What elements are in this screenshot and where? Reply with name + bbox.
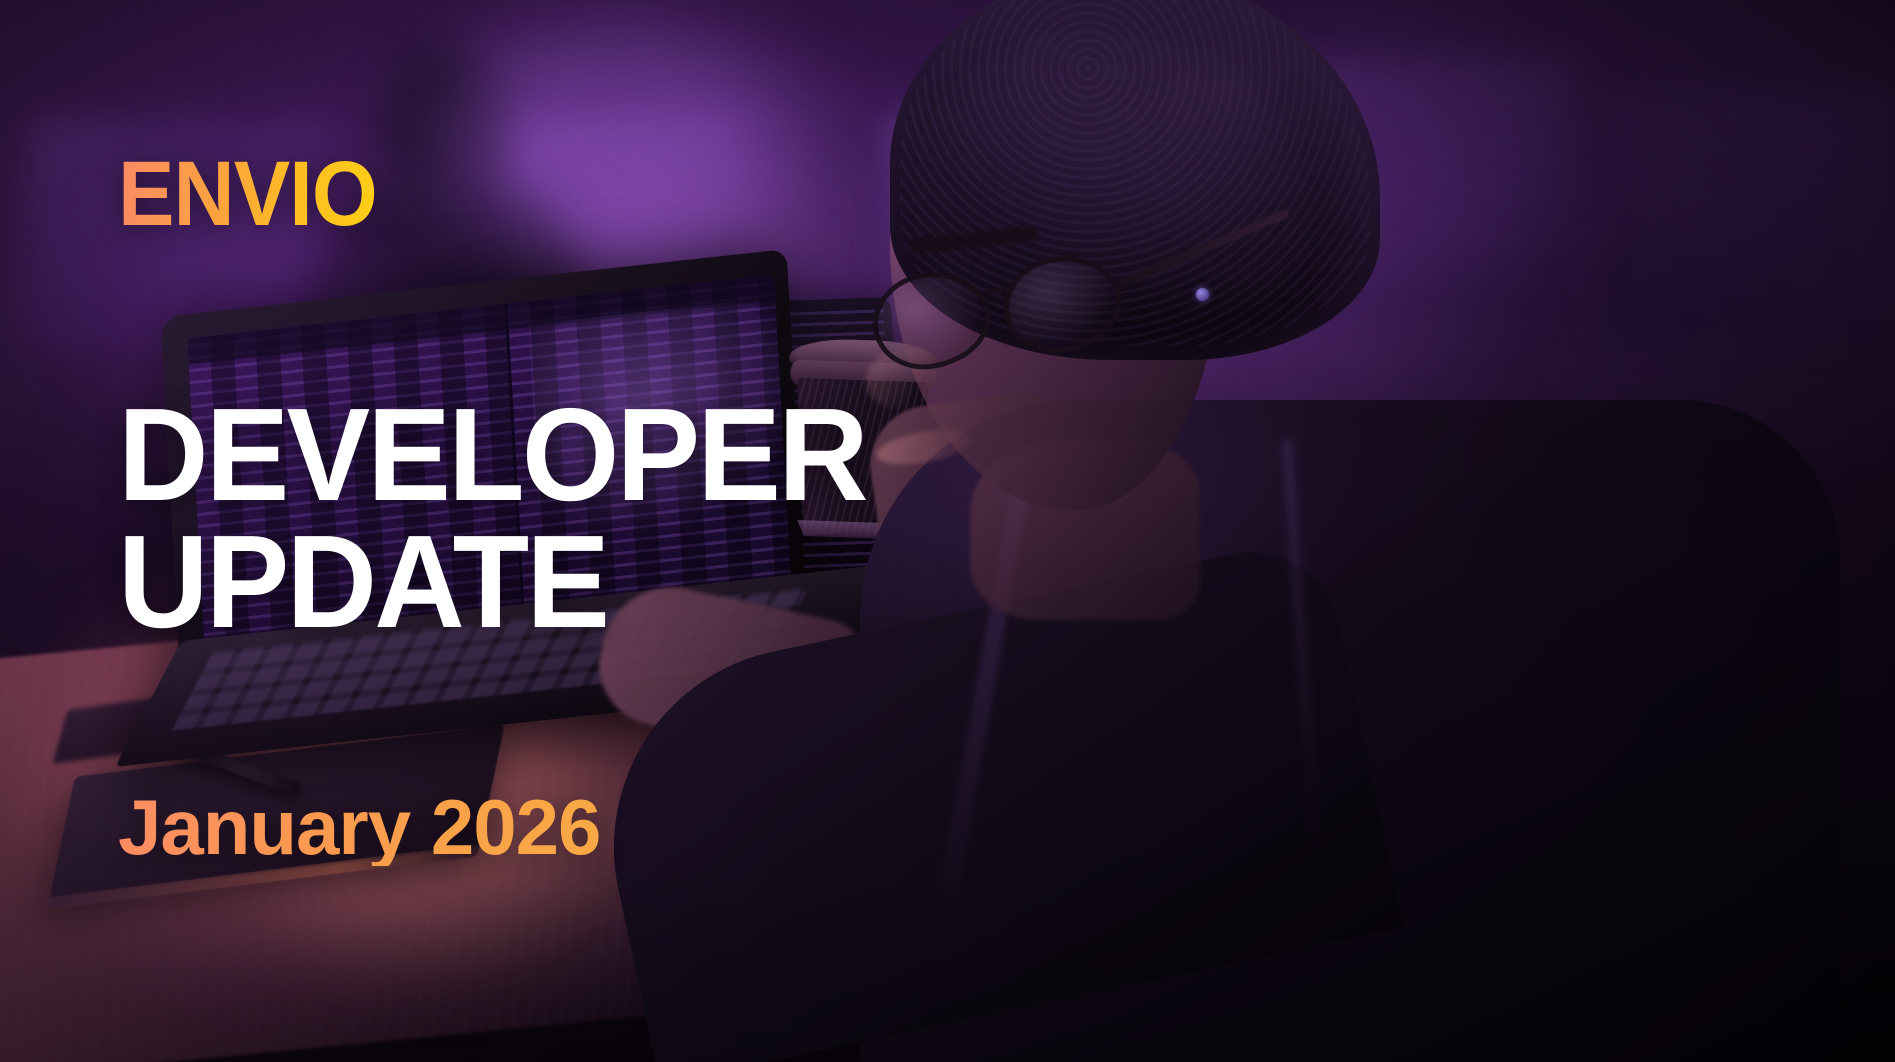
page-title-line-2: UPDATE <box>118 519 866 646</box>
page-title: DEVELOPER UPDATE <box>118 392 866 645</box>
developer-update-banner: ENVIO DEVELOPER UPDATE January 2026 <box>0 0 1895 1062</box>
issue-date: January 2026 <box>118 788 600 866</box>
envio-logo-wordmark: ENVIO <box>118 148 377 240</box>
text-overlay: ENVIO DEVELOPER UPDATE January 2026 <box>0 0 1895 1062</box>
page-title-line-1: DEVELOPER <box>118 392 866 519</box>
